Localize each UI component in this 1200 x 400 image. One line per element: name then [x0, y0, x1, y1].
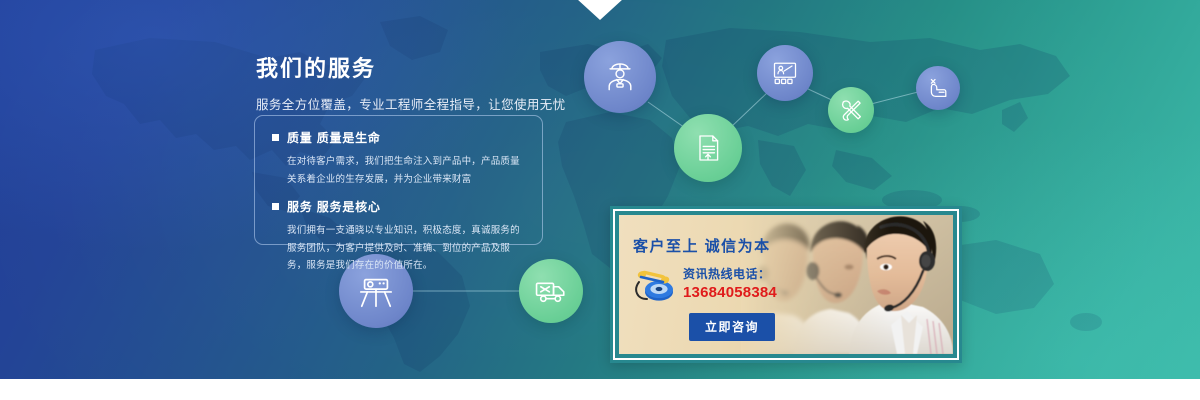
survey-tripod-icon [357, 272, 395, 310]
contact-card: 客户至上 诚信为本 [610, 206, 962, 363]
node-document[interactable] [674, 114, 742, 182]
hotline-row: 资讯热线电话： 13684058384 [633, 266, 777, 304]
hotline-number: 13684058384 [683, 284, 777, 303]
square-bullet-icon [272, 203, 279, 210]
hotline-text: 资讯热线电话： 13684058384 [683, 267, 777, 303]
page-subtitle: 服务全方位覆盖，专业工程师全程指导，让您使用无忧 [256, 94, 556, 113]
list-item: 质量 质量是生命 在对待客户需求，我们把生命注入到产品中，产品质量关系着企业的生… [272, 129, 526, 188]
consult-now-button[interactable]: 立即咨询 [689, 313, 775, 341]
telephone-icon [633, 266, 677, 304]
hand-device-icon [926, 76, 950, 100]
list-item: 服务 服务是核心 我们拥有一支通晓以专业知识，积极态度，真诚服务的服务团队，为客… [272, 198, 526, 275]
card-frame: 客户至上 诚信为本 [613, 209, 959, 360]
service-intro: 我们的服务 服务全方位覆盖，专业工程师全程指导，让您使用无忧 [256, 57, 556, 113]
card-body: 客户至上 诚信为本 [619, 215, 953, 354]
square-bullet-icon [272, 134, 279, 141]
page-title: 我们的服务 [256, 57, 556, 81]
node-maintenance[interactable] [828, 87, 874, 133]
node-shipping[interactable] [519, 259, 583, 323]
bullet-body: 我们拥有一支通晓以专业知识，积极态度，真诚服务的服务团队，为客户提供及时、准确、… [287, 222, 526, 275]
node-training[interactable] [757, 45, 813, 101]
card-content: 客户至上 诚信为本 [633, 235, 777, 341]
chevron-down-icon [577, 0, 623, 21]
card-slogan: 客户至上 诚信为本 [633, 235, 777, 256]
bullet-heading-row: 质量 质量是生命 [272, 129, 526, 146]
bullet-heading: 质量 质量是生命 [287, 129, 381, 146]
service-points-box: 质量 质量是生命 在对待客户需求，我们把生命注入到产品中，产品质量关系着企业的生… [254, 115, 543, 245]
training-board-icon [771, 59, 799, 87]
bullet-heading: 服务 服务是核心 [287, 198, 381, 215]
document-upload-icon [692, 132, 724, 164]
hotline-label: 资讯热线电话： [683, 267, 777, 282]
bullet-heading-row: 服务 服务是核心 [272, 198, 526, 215]
bullet-body: 在对待客户需求，我们把生命注入到产品中，产品质量关系着企业的生存发展，并为企业带… [287, 153, 526, 188]
node-engineer[interactable] [584, 41, 656, 113]
engineer-worker-icon [602, 59, 638, 95]
node-hand-device[interactable] [916, 66, 960, 110]
delivery-truck-icon [534, 274, 568, 308]
tools-wrench-hammer-icon [838, 97, 864, 123]
page-bottom-strip [0, 379, 1200, 400]
service-banner: 我们的服务 服务全方位覆盖，专业工程师全程指导，让您使用无忧 质量 质量是生命 … [0, 0, 1200, 379]
